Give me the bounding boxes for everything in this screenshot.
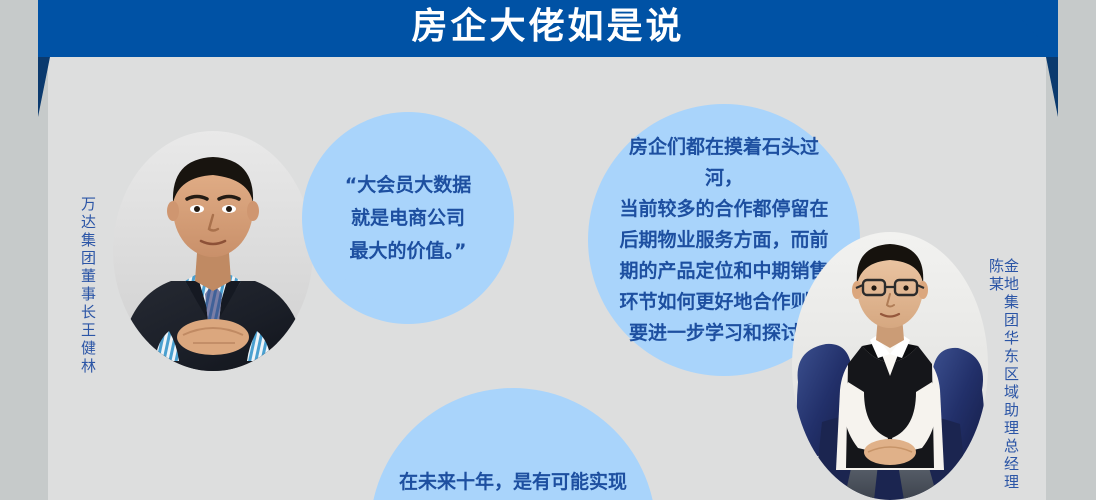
speech-bubble-third: 在未来十年，是有可能实现逆袭的 bbox=[370, 388, 656, 500]
speech-bubble-wang-jianlin: “大会员大数据 就是电商公司 最大的价值。” bbox=[302, 112, 514, 324]
quote-text-wang-jianlin: “大会员大数据 就是电商公司 最大的价值。” bbox=[327, 169, 490, 268]
speaker-label-wang-jianlin: 万达集团董事长王健林 bbox=[80, 196, 95, 376]
avatar-wang-jianlin bbox=[113, 131, 313, 371]
portrait-photo-left bbox=[113, 131, 313, 371]
banner-fold-right bbox=[1046, 57, 1058, 117]
quote-text-third: 在未来十年，是有可能实现逆袭的 bbox=[370, 388, 656, 500]
portrait-photo-right bbox=[792, 232, 988, 500]
infographic-canvas: 房企大佬如是说 万达集团董事长王健林 bbox=[0, 0, 1096, 500]
speaker-label-jindi-chen: 金地集团华东区域助理总经理陈某 bbox=[988, 258, 1018, 500]
avatar-jindi-chen bbox=[792, 232, 988, 500]
